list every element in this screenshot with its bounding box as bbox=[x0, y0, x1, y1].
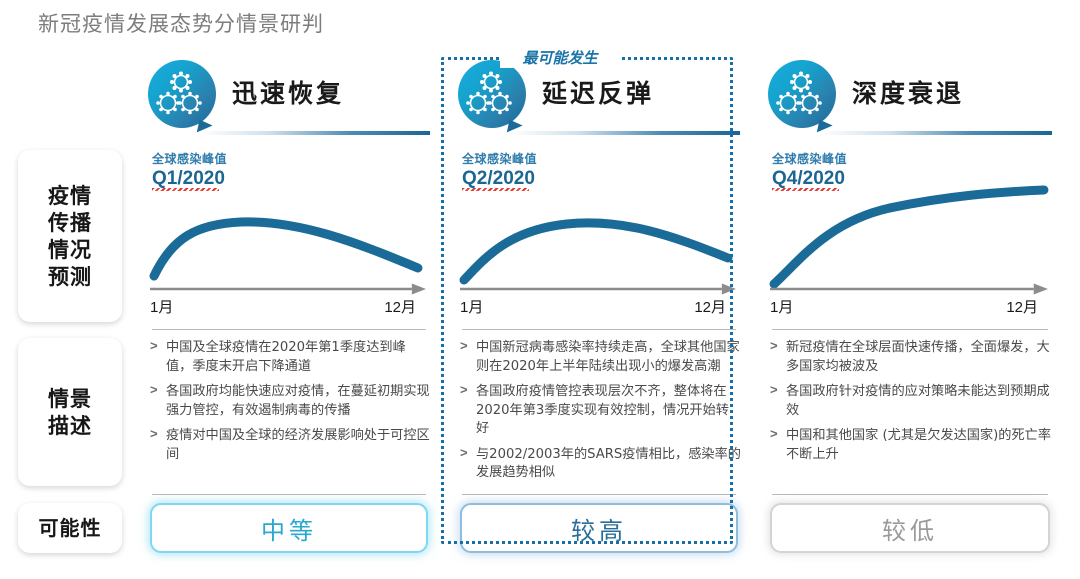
peak-caption: 全球感染峰值 bbox=[462, 150, 537, 167]
scenario-matrix-slide: 新冠疫情发展态势分情景研判 疫情传播情况预测 情景描述 可能性 bbox=[0, 0, 1080, 579]
scenario-title: 延迟反弹 bbox=[542, 74, 654, 110]
bullet-marker-icon: > bbox=[460, 445, 468, 460]
list-item: > 各国政府针对疫情的应对策略未能达到预期成效 bbox=[770, 382, 1054, 419]
scenario-column-rapid-recovery[interactable]: 迅速恢复 全球感染峰值 Q1/2020 1月 12月 bbox=[140, 0, 438, 579]
scenario-header: 延迟反弹 bbox=[450, 58, 748, 146]
scenario-column-deep-recession[interactable]: 深度衰退 全球感染峰值 Q4/2020 1月 12月 bbox=[760, 0, 1060, 579]
likelihood-badge-low[interactable]: 较低 bbox=[770, 503, 1050, 553]
most-likely-label: 最可能发生 bbox=[500, 47, 620, 68]
bullet-marker-icon: > bbox=[150, 426, 158, 441]
row-separator bbox=[772, 329, 1048, 330]
list-item-text: 新冠疫情在全球层面快速传播，全面爆发，大多国家均被波及 bbox=[786, 340, 1050, 374]
time-axis: 1月 12月 bbox=[458, 296, 740, 316]
peak-caption: 全球感染峰值 bbox=[152, 150, 227, 167]
scenario-title: 迅速恢复 bbox=[232, 74, 344, 110]
peak-quarter-value: Q2/2020 bbox=[462, 168, 535, 190]
list-item-text: 各国政府均能快速应对疫情，在蔓延初期实现强力管控，有效遏制病毒的传播 bbox=[166, 384, 430, 418]
list-item: > 各国政府均能快速应对疫情，在蔓延初期实现强力管控，有效遏制病毒的传播 bbox=[150, 382, 432, 419]
peak-caption: 全球感染峰值 bbox=[772, 150, 847, 167]
epidemic-curve-panel: 全球感染峰值 Q1/2020 1月 12月 bbox=[148, 150, 430, 320]
row-label-text: 可能性 bbox=[39, 515, 102, 542]
list-item-text: 中国及全球疫情在2020年第1季度达到峰值，季度末开启下降通道 bbox=[166, 340, 406, 374]
peak-quarter-value: Q1/2020 bbox=[152, 168, 225, 190]
virus-speech-bubble-icon bbox=[768, 60, 836, 128]
peak-quarter-value: Q4/2020 bbox=[772, 168, 845, 190]
row-separator bbox=[462, 494, 736, 495]
list-item: > 新冠疫情在全球层面快速传播，全面爆发，大多国家均被波及 bbox=[770, 338, 1054, 375]
list-item-text: 中国新冠病毒感染率持续走高，全球其他国家则在2020年上半年陆续出现小的爆发高潮 bbox=[476, 340, 740, 374]
axis-start-label: 1月 bbox=[150, 296, 173, 317]
bullet-marker-icon: > bbox=[150, 382, 158, 397]
scenario-description-list: > 中国新冠病毒感染率持续走高，全球其他国家则在2020年上半年陆续出现小的爆发… bbox=[460, 338, 742, 488]
scenario-column-delayed-rebound[interactable]: 延迟反弹 全球感染峰值 Q2/2020 1月 12月 bbox=[450, 0, 748, 579]
row-separator bbox=[772, 494, 1048, 495]
bullet-marker-icon: > bbox=[770, 426, 778, 441]
title-underline-rule bbox=[200, 131, 430, 135]
row-label-text: 情景描述 bbox=[48, 385, 92, 439]
title-underline-rule bbox=[510, 131, 740, 135]
title-underline-rule bbox=[820, 131, 1052, 135]
list-item-text: 与2002/2003年的SARS疫情相比，感染率的发展趋势相似 bbox=[476, 447, 741, 481]
list-item-text: 疫情对中国及全球的经济发展影响处于可控区间 bbox=[166, 428, 430, 462]
scenario-description-list: > 中国及全球疫情在2020年第1季度达到峰值，季度末开启下降通道 > 各国政府… bbox=[150, 338, 432, 488]
scenario-title: 深度衰退 bbox=[852, 74, 964, 110]
bullet-marker-icon: > bbox=[770, 338, 778, 353]
likelihood-badge-medium[interactable]: 中等 bbox=[150, 503, 428, 553]
time-axis: 1月 12月 bbox=[768, 296, 1052, 316]
time-axis: 1月 12月 bbox=[148, 296, 430, 316]
scenario-description-list: > 新冠疫情在全球层面快速传播，全面爆发，大多国家均被波及 > 各国政府针对疫情… bbox=[770, 338, 1054, 488]
axis-end-label: 12月 bbox=[1006, 296, 1038, 317]
bullet-marker-icon: > bbox=[460, 382, 468, 397]
row-separator bbox=[462, 329, 736, 330]
axis-end-label: 12月 bbox=[384, 296, 416, 317]
bullet-marker-icon: > bbox=[460, 338, 468, 353]
scenario-header: 深度衰退 bbox=[760, 58, 1060, 146]
list-item: > 疫情对中国及全球的经济发展影响处于可控区间 bbox=[150, 426, 432, 463]
epidemic-curve-panel: 全球感染峰值 Q2/2020 1月 12月 bbox=[458, 150, 740, 320]
row-separator bbox=[152, 494, 426, 495]
list-item: > 中国新冠病毒感染率持续走高，全球其他国家则在2020年上半年陆续出现小的爆发… bbox=[460, 338, 742, 375]
row-separator bbox=[152, 329, 426, 330]
row-label-epidemic-spread-forecast: 疫情传播情况预测 bbox=[18, 150, 122, 322]
list-item-text: 各国政府疫情管控表现层次不齐，整体将在2020年第3季度实现有效控制，情况开始转… bbox=[476, 384, 729, 436]
list-item: > 各国政府疫情管控表现层次不齐，整体将在2020年第3季度实现有效控制，情况开… bbox=[460, 382, 742, 438]
axis-end-label: 12月 bbox=[694, 296, 726, 317]
axis-start-label: 1月 bbox=[460, 296, 483, 317]
virus-speech-bubble-icon bbox=[458, 60, 526, 128]
list-item: > 中国和其他国家 (尤其是欠发达国家)的死亡率不断上升 bbox=[770, 426, 1054, 463]
list-item: > 与2002/2003年的SARS疫情相比，感染率的发展趋势相似 bbox=[460, 445, 742, 482]
axis-start-label: 1月 bbox=[770, 296, 793, 317]
row-label-text: 疫情传播情况预测 bbox=[48, 182, 92, 290]
virus-speech-bubble-icon bbox=[148, 60, 216, 128]
row-label-likelihood: 可能性 bbox=[18, 503, 122, 553]
list-item-text: 中国和其他国家 (尤其是欠发达国家)的死亡率不断上升 bbox=[786, 428, 1051, 462]
epidemic-curve-panel: 全球感染峰值 Q4/2020 1月 12月 bbox=[768, 150, 1052, 320]
likelihood-cell: 较高 bbox=[460, 503, 738, 553]
row-label-column: 疫情传播情况预测 情景描述 可能性 bbox=[0, 0, 132, 579]
bullet-marker-icon: > bbox=[150, 338, 158, 353]
bullet-marker-icon: > bbox=[770, 382, 778, 397]
row-label-scenario-description: 情景描述 bbox=[18, 338, 122, 486]
list-item: > 中国及全球疫情在2020年第1季度达到峰值，季度末开启下降通道 bbox=[150, 338, 432, 375]
list-item-text: 各国政府针对疫情的应对策略未能达到预期成效 bbox=[786, 384, 1050, 418]
scenario-header: 迅速恢复 bbox=[140, 58, 438, 146]
likelihood-cell: 较低 bbox=[770, 503, 1050, 553]
likelihood-cell: 中等 bbox=[150, 503, 428, 553]
likelihood-badge-high[interactable]: 较高 bbox=[460, 503, 738, 553]
